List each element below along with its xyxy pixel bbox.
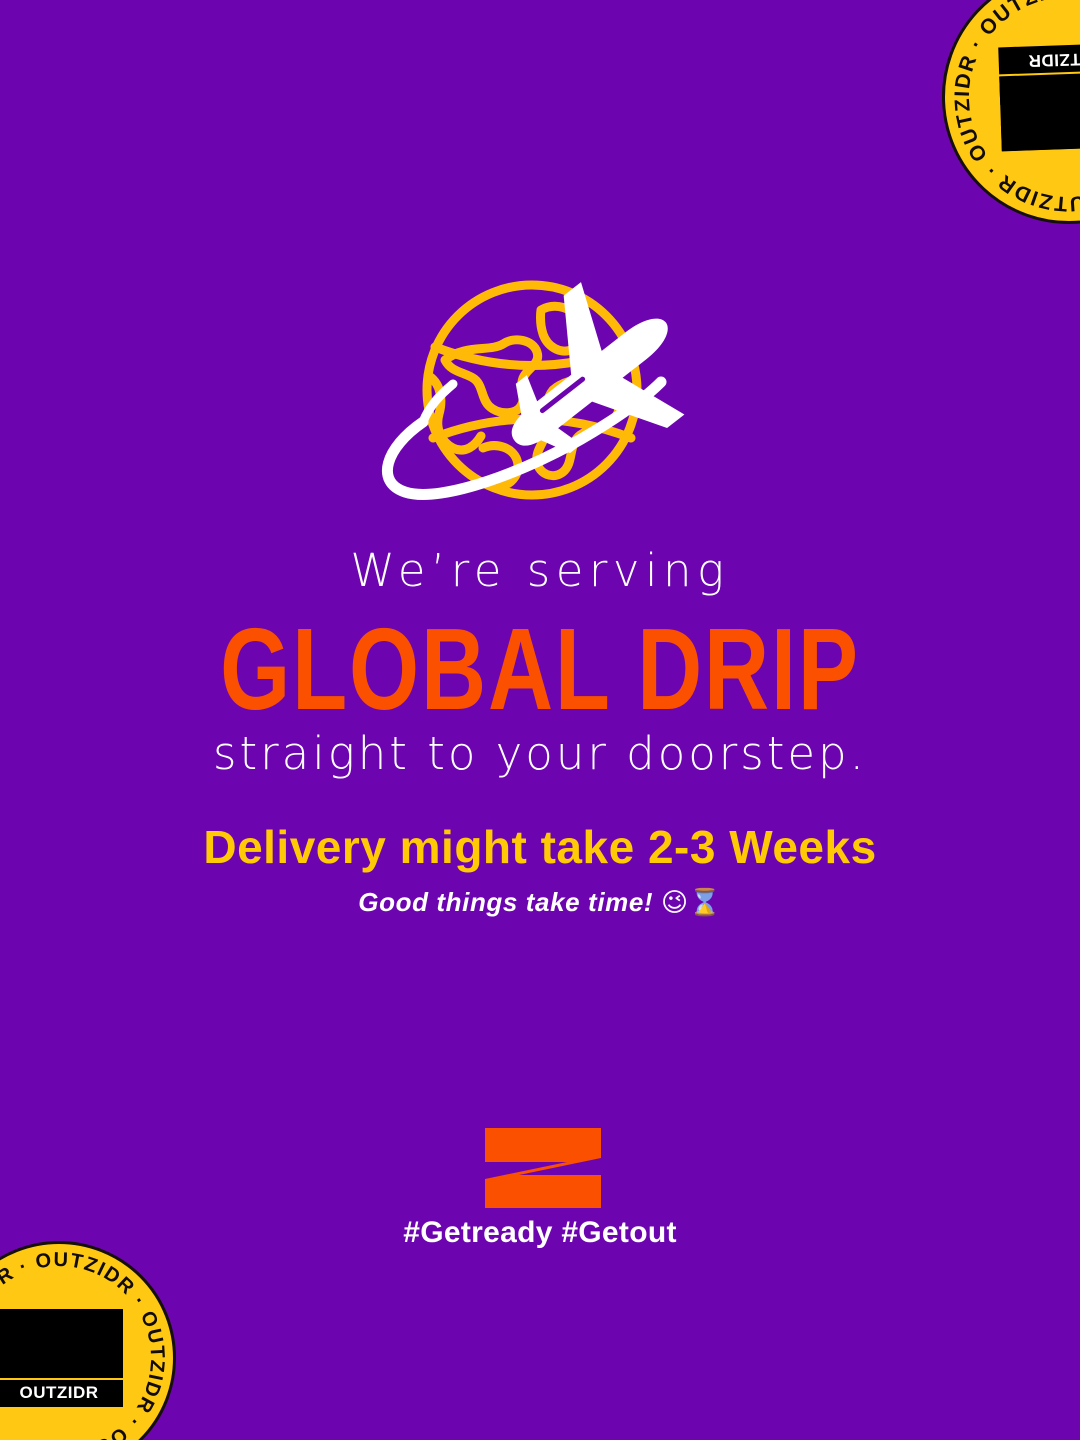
headline-line-doorstep: straight to your doorstep. bbox=[0, 731, 1080, 776]
promo-poster: We’re serving GLOBAL DRIP straight to yo… bbox=[0, 0, 1080, 1440]
outzidr-badge-top-right: OUTZIDR · OUTZIDR · OUTZIDR · OUTZIDR · … bbox=[938, 0, 1080, 228]
badge-wordmark-top-right: OUTZIDR bbox=[998, 43, 1080, 75]
wink-hourglass-emoji: 😉⌛ bbox=[661, 888, 722, 918]
delivery-subline: Good things take time! 😉⌛ bbox=[0, 887, 1080, 918]
badge-wordmark-bottom-left: OUTZIDR bbox=[0, 1380, 123, 1407]
headline-line-global-drip: GLOBAL DRIP bbox=[43, 611, 1037, 727]
badge-inner-bottom-left: OUTZIDR bbox=[0, 1244, 173, 1440]
globe-airplane-emblem bbox=[355, 272, 715, 517]
badge-z-mark-bottom-left bbox=[0, 1309, 123, 1377]
delivery-subline-text: Good things take time! bbox=[358, 887, 653, 917]
badge-inner-top-right: OUTZIDR bbox=[941, 0, 1080, 225]
outzidr-badge-bottom-left: OUTZIDR · OUTZIDR · OUTZIDR · OUTZIDR · … bbox=[0, 1241, 176, 1440]
delivery-headline: Delivery might take 2-3 Weeks bbox=[0, 822, 1080, 873]
headline-line-serving: We’re serving bbox=[0, 548, 1080, 593]
delivery-note-block: Delivery might take 2-3 Weeks Good thing… bbox=[0, 822, 1080, 918]
headline-block: We’re serving GLOBAL DRIP straight to yo… bbox=[0, 548, 1080, 776]
badge-z-mark-top-right bbox=[999, 72, 1080, 151]
outzidr-z-logo bbox=[483, 1126, 603, 1210]
